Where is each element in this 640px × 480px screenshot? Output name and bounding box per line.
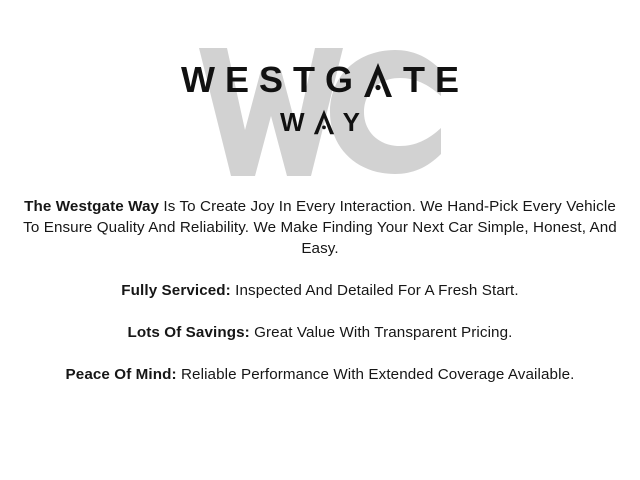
letter-a-dotted-glyph	[363, 62, 393, 98]
paragraph-westgate-way: The Westgate Way Is To Create Joy In Eve…	[18, 196, 622, 259]
paragraph-body: Reliable Performance With Extended Cover…	[177, 366, 575, 383]
letter-a-dotted-glyph-sub	[313, 109, 335, 135]
paragraph-lead: Lots Of Savings:	[128, 324, 250, 341]
wordmark-westgate-part2: TE	[393, 62, 469, 98]
wordmark-way-part1: W	[272, 109, 313, 135]
wordmark-westgate-part1: WESTG	[171, 62, 363, 98]
paragraph-fully-serviced: Fully Serviced: Inspected And Detailed F…	[18, 280, 622, 301]
paragraph-lead: Peace Of Mind:	[66, 366, 177, 383]
paragraph-peace-of-mind: Peace Of Mind: Reliable Performance With…	[18, 364, 622, 385]
paragraph-lead: The Westgate Way	[24, 198, 159, 215]
paragraph-body: Inspected And Detailed For A Fresh Start…	[231, 282, 519, 299]
brand-info-card: WESTG TE W Y	[0, 0, 640, 480]
paragraph-body: Great Value With Transparent Pricing.	[250, 324, 513, 341]
brand-copy: The Westgate Way Is To Create Joy In Eve…	[0, 196, 640, 385]
wordmark-way: W Y	[272, 109, 368, 135]
paragraph-lead: Fully Serviced:	[121, 282, 231, 299]
brand-wordmark: WESTG TE W Y	[0, 0, 640, 185]
paragraph-lots-of-savings: Lots Of Savings: Great Value With Transp…	[18, 322, 622, 343]
wordmark-way-part2: Y	[335, 109, 368, 135]
wordmark-westgate: WESTG TE	[171, 62, 469, 98]
brand-logo-block: WESTG TE W Y	[0, 0, 640, 185]
